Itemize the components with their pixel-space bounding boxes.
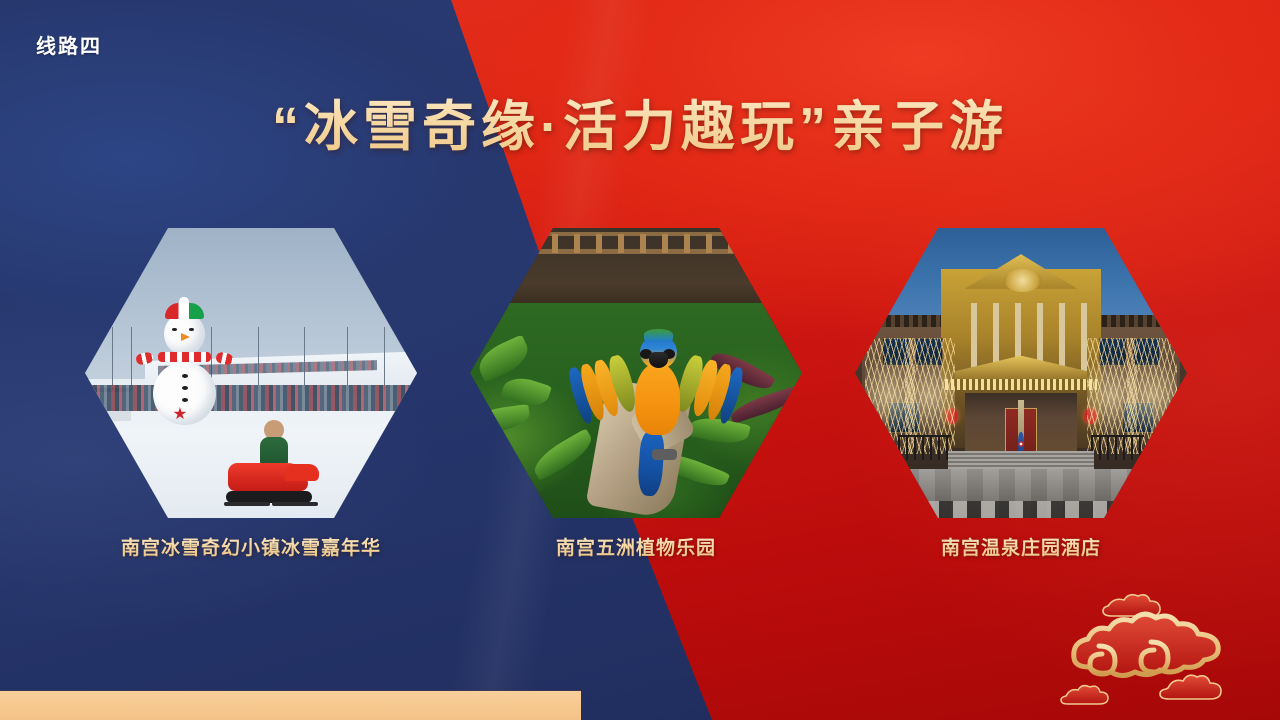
cloud-small-bottom-right (1160, 675, 1221, 699)
macaw-garden-photo (470, 228, 802, 518)
presentation-slide: 线路四 “冰雪奇缘·活力趣玩”亲子游 (0, 0, 1280, 720)
attraction-card[interactable]: 南宫温泉庄园酒店 (855, 228, 1187, 518)
hexagon-photo-frame (85, 228, 417, 518)
cloud-small-bottom-left (1061, 686, 1108, 704)
page-title: “冰雪奇缘·活力趣玩”亲子游 (0, 82, 1280, 161)
macaw-parrot (570, 327, 743, 466)
attraction-caption: 南宫五洲植物乐园 (430, 533, 842, 560)
hotel-dusk-photo (855, 228, 1187, 518)
attraction-caption: 南宫温泉庄园酒店 (815, 533, 1227, 560)
hexagon-photo-frame (855, 228, 1187, 518)
attraction-card[interactable]: 南宫冰雪奇幻小镇冰雪嘉年华 (85, 228, 417, 518)
auspicious-cloud-ornament (1050, 592, 1260, 712)
inflatable-snowman (151, 303, 217, 425)
attraction-caption: 南宫冰雪奇幻小镇冰雪嘉年华 (45, 533, 457, 560)
bottom-accent-bar (0, 691, 581, 720)
route-label: 线路四 (36, 30, 102, 59)
hexagon-photo-frame (470, 228, 802, 518)
snowmobile-rider (224, 431, 324, 506)
snow-carnival-photo (85, 228, 417, 518)
cloud-large-main (1074, 614, 1218, 675)
attraction-card[interactable]: 南宫五洲植物乐园 (470, 228, 802, 518)
attraction-card-row: 南宫冰雪奇幻小镇冰雪嘉年华 (0, 228, 1280, 568)
